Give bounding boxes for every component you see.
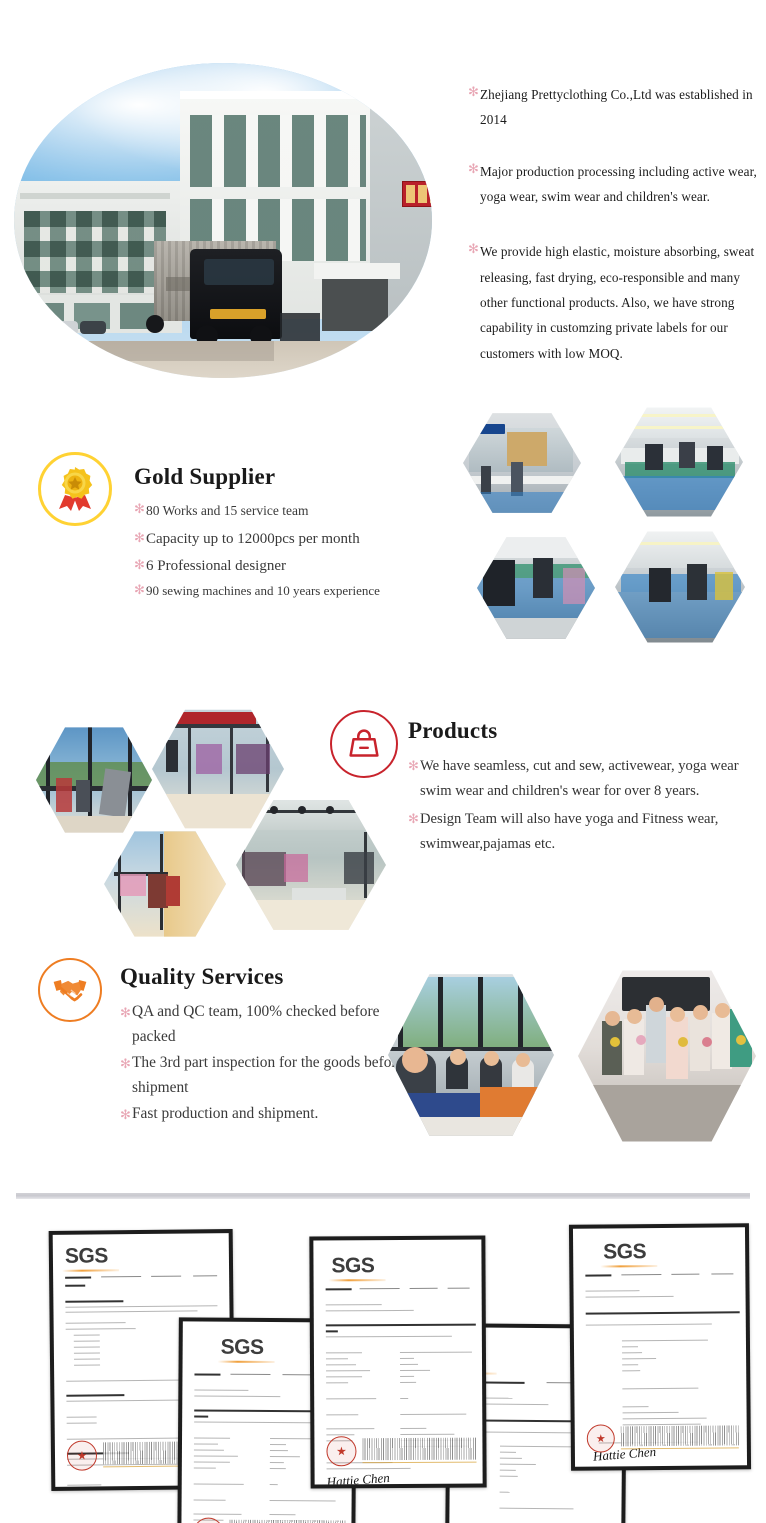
feature-text: Design Team will also have yoga and Fitn… bbox=[420, 807, 766, 858]
list-item: ✻ 90 sewing machines and 10 years experi… bbox=[134, 581, 464, 601]
gold-medal-icon bbox=[38, 452, 112, 526]
list-item: ✻ QA and QC team, 100% checked before pa… bbox=[120, 1000, 420, 1050]
gold-supplier-section: Gold Supplier ✻ 80 Works and 15 service … bbox=[38, 452, 438, 526]
list-item: ✻ Fast production and shipment. bbox=[120, 1102, 420, 1127]
star-bullet-icon: ✻ bbox=[408, 759, 420, 772]
certificates-gallery: SGS bbox=[0, 1200, 766, 1523]
section-divider bbox=[16, 1193, 750, 1199]
hero-factory-photo bbox=[14, 63, 432, 378]
factory-photo-grid bbox=[455, 400, 766, 650]
intro-bullet-text: Major production processing including ac… bbox=[480, 159, 760, 210]
list-item: ✻ 80 Works and 15 service team bbox=[134, 500, 464, 522]
list-item: ✻ We provide high elastic, moisture abso… bbox=[468, 239, 760, 366]
feature-text: The 3rd part inspection for the goods be… bbox=[132, 1051, 420, 1101]
feature-text: 6 Professional designer bbox=[146, 555, 286, 578]
star-bullet-icon: ✻ bbox=[408, 812, 420, 825]
factory-hex-photo-4 bbox=[615, 528, 745, 646]
factory-hex-photo-1 bbox=[463, 410, 581, 516]
star-bullet-icon: ✻ bbox=[134, 583, 146, 596]
star-bullet-icon: ✻ bbox=[468, 242, 480, 366]
star-bullet-icon: ✻ bbox=[120, 1108, 132, 1121]
feature-text: Fast production and shipment. bbox=[132, 1102, 318, 1127]
official-seal bbox=[326, 1436, 356, 1466]
official-seal bbox=[67, 1440, 97, 1470]
section-title: Products bbox=[408, 718, 766, 744]
quality-hex-photo-1 bbox=[388, 969, 554, 1141]
quality-hex-photo-2 bbox=[578, 965, 756, 1147]
sgs-logo: SGS bbox=[331, 1254, 374, 1278]
quality-feature-list: ✻ QA and QC team, 100% checked before pa… bbox=[120, 1000, 420, 1127]
products-section: Products ✻ We have seamless, cut and sew… bbox=[330, 710, 766, 778]
feature-text: We have seamless, cut and sew, activewea… bbox=[420, 754, 766, 805]
list-item: ✻ We have seamless, cut and sew, activew… bbox=[408, 754, 766, 805]
feature-text: 90 sewing machines and 10 years experien… bbox=[146, 581, 380, 601]
sgs-logo: SGS bbox=[603, 1240, 646, 1264]
list-item: ✻ 6 Professional designer bbox=[134, 555, 464, 578]
feature-text: Capacity up to 12000pcs per month bbox=[146, 528, 360, 551]
certificate-sgs-3[interactable]: SGS bbox=[309, 1236, 486, 1489]
star-bullet-icon: ✻ bbox=[134, 531, 146, 544]
showroom-hex-photo-3 bbox=[104, 828, 226, 940]
factory-hex-photo-2 bbox=[615, 404, 743, 520]
factory-hex-photo-3 bbox=[477, 534, 595, 642]
intro-bullet-text: We provide high elastic, moisture absorb… bbox=[480, 239, 760, 366]
star-bullet-icon: ✻ bbox=[468, 162, 480, 210]
sgs-logo: SGS bbox=[221, 1336, 264, 1360]
star-bullet-icon: ✻ bbox=[468, 85, 480, 133]
official-seal bbox=[587, 1424, 615, 1452]
star-bullet-icon: ✻ bbox=[120, 1006, 132, 1019]
gold-supplier-feature-list: ✻ 80 Works and 15 service team ✻ Capacit… bbox=[134, 500, 464, 600]
section-title: Gold Supplier bbox=[134, 464, 464, 490]
section-title: Quality Services bbox=[120, 964, 420, 990]
company-intro-list: ✻ Zhejiang Prettyclothing Co.,Ltd was es… bbox=[468, 82, 760, 392]
quality-services-section: Quality Services ✻ QA and QC team, 100% … bbox=[38, 958, 418, 1022]
star-bullet-icon: ✻ bbox=[134, 502, 146, 515]
products-feature-list: ✻ We have seamless, cut and sew, activew… bbox=[408, 754, 766, 858]
company-profile-page: ✻ Zhejiang Prettyclothing Co.,Ltd was es… bbox=[0, 0, 766, 1523]
feature-text: 80 Works and 15 service team bbox=[146, 500, 309, 522]
showroom-hex-photo-4 bbox=[236, 796, 386, 934]
signature: Hattie Chen bbox=[326, 1470, 390, 1485]
handshake-icon bbox=[38, 958, 102, 1022]
handbag-icon bbox=[330, 710, 398, 778]
list-item: ✻ Zhejiang Prettyclothing Co.,Ltd was es… bbox=[468, 82, 760, 133]
list-item: ✻ The 3rd part inspection for the goods … bbox=[120, 1051, 420, 1101]
list-item: ✻ Major production processing including … bbox=[468, 159, 760, 210]
sgs-logo: SGS bbox=[65, 1244, 108, 1268]
feature-text: QA and QC team, 100% checked before pack… bbox=[132, 1000, 420, 1050]
list-item: ✻ Capacity up to 12000pcs per month bbox=[134, 528, 464, 551]
certificate-sgs-5[interactable]: SGS Hattie C bbox=[569, 1223, 751, 1471]
quality-photo-group bbox=[380, 955, 766, 1155]
list-item: ✻ Design Team will also have yoga and Fi… bbox=[408, 807, 766, 858]
star-bullet-icon: ✻ bbox=[134, 558, 146, 571]
showroom-hex-photo-2 bbox=[152, 706, 284, 832]
intro-bullet-text: Zhejiang Prettyclothing Co.,Ltd was esta… bbox=[480, 82, 760, 133]
star-bullet-icon: ✻ bbox=[120, 1057, 132, 1070]
showroom-hex-photo-1 bbox=[36, 724, 152, 836]
